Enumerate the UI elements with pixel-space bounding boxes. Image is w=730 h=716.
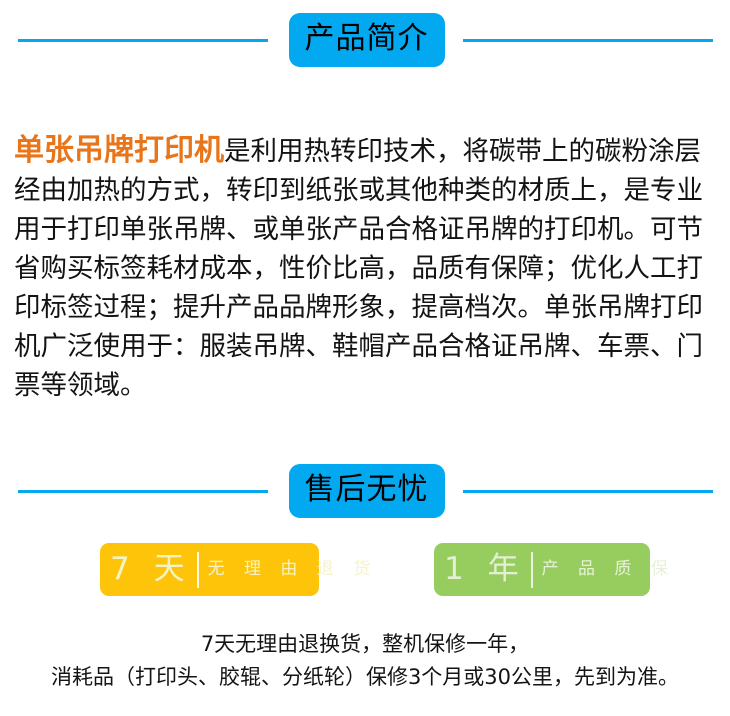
service-note-line: 7天无理由退换货，整机保修一年， bbox=[0, 628, 730, 661]
section-title-service: 售后无忧 bbox=[289, 464, 445, 518]
guarantee-divider bbox=[197, 552, 199, 588]
guarantee-badges: 7 天 无 理 由 退 货 1 年 产 品 质 保 bbox=[0, 543, 730, 599]
header-divider-left bbox=[18, 490, 268, 493]
header-divider-right bbox=[463, 490, 713, 493]
guarantee-duration: 7 天 bbox=[110, 554, 194, 585]
guarantee-label: 产 品 质 保 bbox=[542, 561, 675, 578]
service-notes: 7天无理由退换货，整机保修一年， 消耗品（打印头、胶辊、分纸轮）保修3个月或30… bbox=[0, 628, 730, 694]
product-description-text: 是利用热转印技术，将碳带上的碳粉涂层经由加热的方式，转印到纸张或其他种类的材质上… bbox=[14, 136, 703, 401]
product-name-highlight: 单张吊牌打印机 bbox=[14, 133, 224, 168]
section-title-product: 产品简介 bbox=[289, 13, 445, 67]
guarantee-duration: 1 年 bbox=[444, 554, 528, 585]
header-divider-right bbox=[463, 39, 713, 42]
guarantee-badge-warranty: 1 年 产 品 质 保 bbox=[434, 543, 650, 596]
section-header-service: 售后无忧 bbox=[0, 463, 730, 519]
service-note-line: 消耗品（打印头、胶辊、分纸轮）保修3个月或30公里，先到为准。 bbox=[0, 661, 730, 694]
guarantee-divider bbox=[531, 552, 533, 588]
section-header-product: 产品简介 bbox=[0, 12, 730, 68]
header-divider-left bbox=[18, 39, 268, 42]
product-detail-page: 产品简介 单张吊牌打印机是利用热转印技术，将碳带上的碳粉涂层经由加热的方式，转印… bbox=[0, 0, 730, 716]
guarantee-badge-return-policy: 7 天 无 理 由 退 货 bbox=[100, 543, 319, 596]
guarantee-label: 无 理 由 退 货 bbox=[208, 561, 378, 578]
product-description: 单张吊牌打印机是利用热转印技术，将碳带上的碳粉涂层经由加热的方式，转印到纸张或其… bbox=[14, 131, 720, 405]
